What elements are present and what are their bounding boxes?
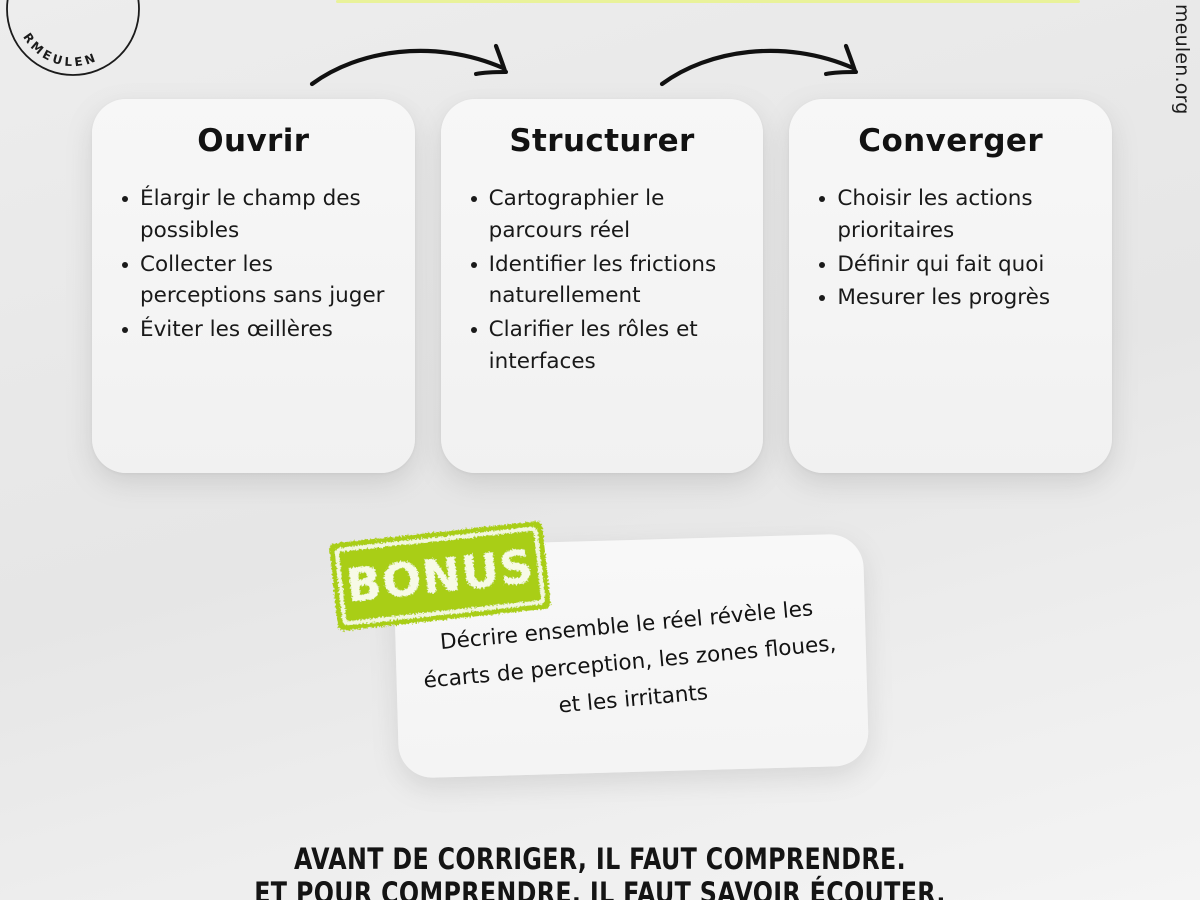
list-item: Clarifier les rôles et interfaces <box>463 314 742 378</box>
step-card-list: Choisir les actions prioritaires Définir… <box>811 183 1090 314</box>
list-item: Choisir les actions prioritaires <box>811 183 1090 247</box>
headline-line-1: AVANT DE CORRIGER, IL FAUT COMPRENDRE. <box>108 842 1092 876</box>
bottom-headline: AVANT DE CORRIGER, IL FAUT COMPRENDRE. E… <box>108 842 1092 900</box>
step-card-title: Ouvrir <box>114 123 393 159</box>
infographic-canvas: RMEULEN meulen.org Ouvrir Élargir le cha… <box>0 0 1200 900</box>
flow-arrow-1-icon <box>306 28 532 90</box>
step-card-title: Converger <box>811 123 1090 159</box>
step-card-list: Cartographier le parcours réel Identifie… <box>463 183 742 378</box>
list-item: Collecter les perceptions sans juger <box>114 249 393 313</box>
svg-text:RMEULEN: RMEULEN <box>20 30 100 69</box>
step-card-ouvrir: Ouvrir Élargir le champ des possibles Co… <box>92 99 415 473</box>
step-card-title: Structurer <box>463 123 742 159</box>
step-card-list: Élargir le champ des possibles Collecter… <box>114 183 393 346</box>
steps-row: Ouvrir Élargir le champ des possibles Co… <box>92 99 1112 473</box>
list-item: Définir qui fait quoi <box>811 249 1090 281</box>
list-item: Éviter les œillères <box>114 314 393 346</box>
logo-arc-text: RMEULEN <box>20 30 100 69</box>
flow-arrow-2-icon <box>656 28 882 90</box>
site-url-vertical: meulen.org <box>1162 0 1200 150</box>
list-item: Cartographier le parcours réel <box>463 183 742 247</box>
list-item: Élargir le champ des possibles <box>114 183 393 247</box>
top-accent-rule <box>336 0 1080 3</box>
list-item: Mesurer les progrès <box>811 282 1090 314</box>
headline-line-2: ET POUR COMPRENDRE, IL FAUT SAVOIR ÉCOUT… <box>108 876 1092 900</box>
step-card-converger: Converger Choisir les actions prioritair… <box>789 99 1112 473</box>
step-card-structurer: Structurer Cartographier le parcours rée… <box>441 99 764 473</box>
site-url-text: meulen.org <box>1171 0 1193 114</box>
list-item: Identifier les frictions naturellement <box>463 249 742 313</box>
circular-logo-badge: RMEULEN <box>0 0 148 84</box>
